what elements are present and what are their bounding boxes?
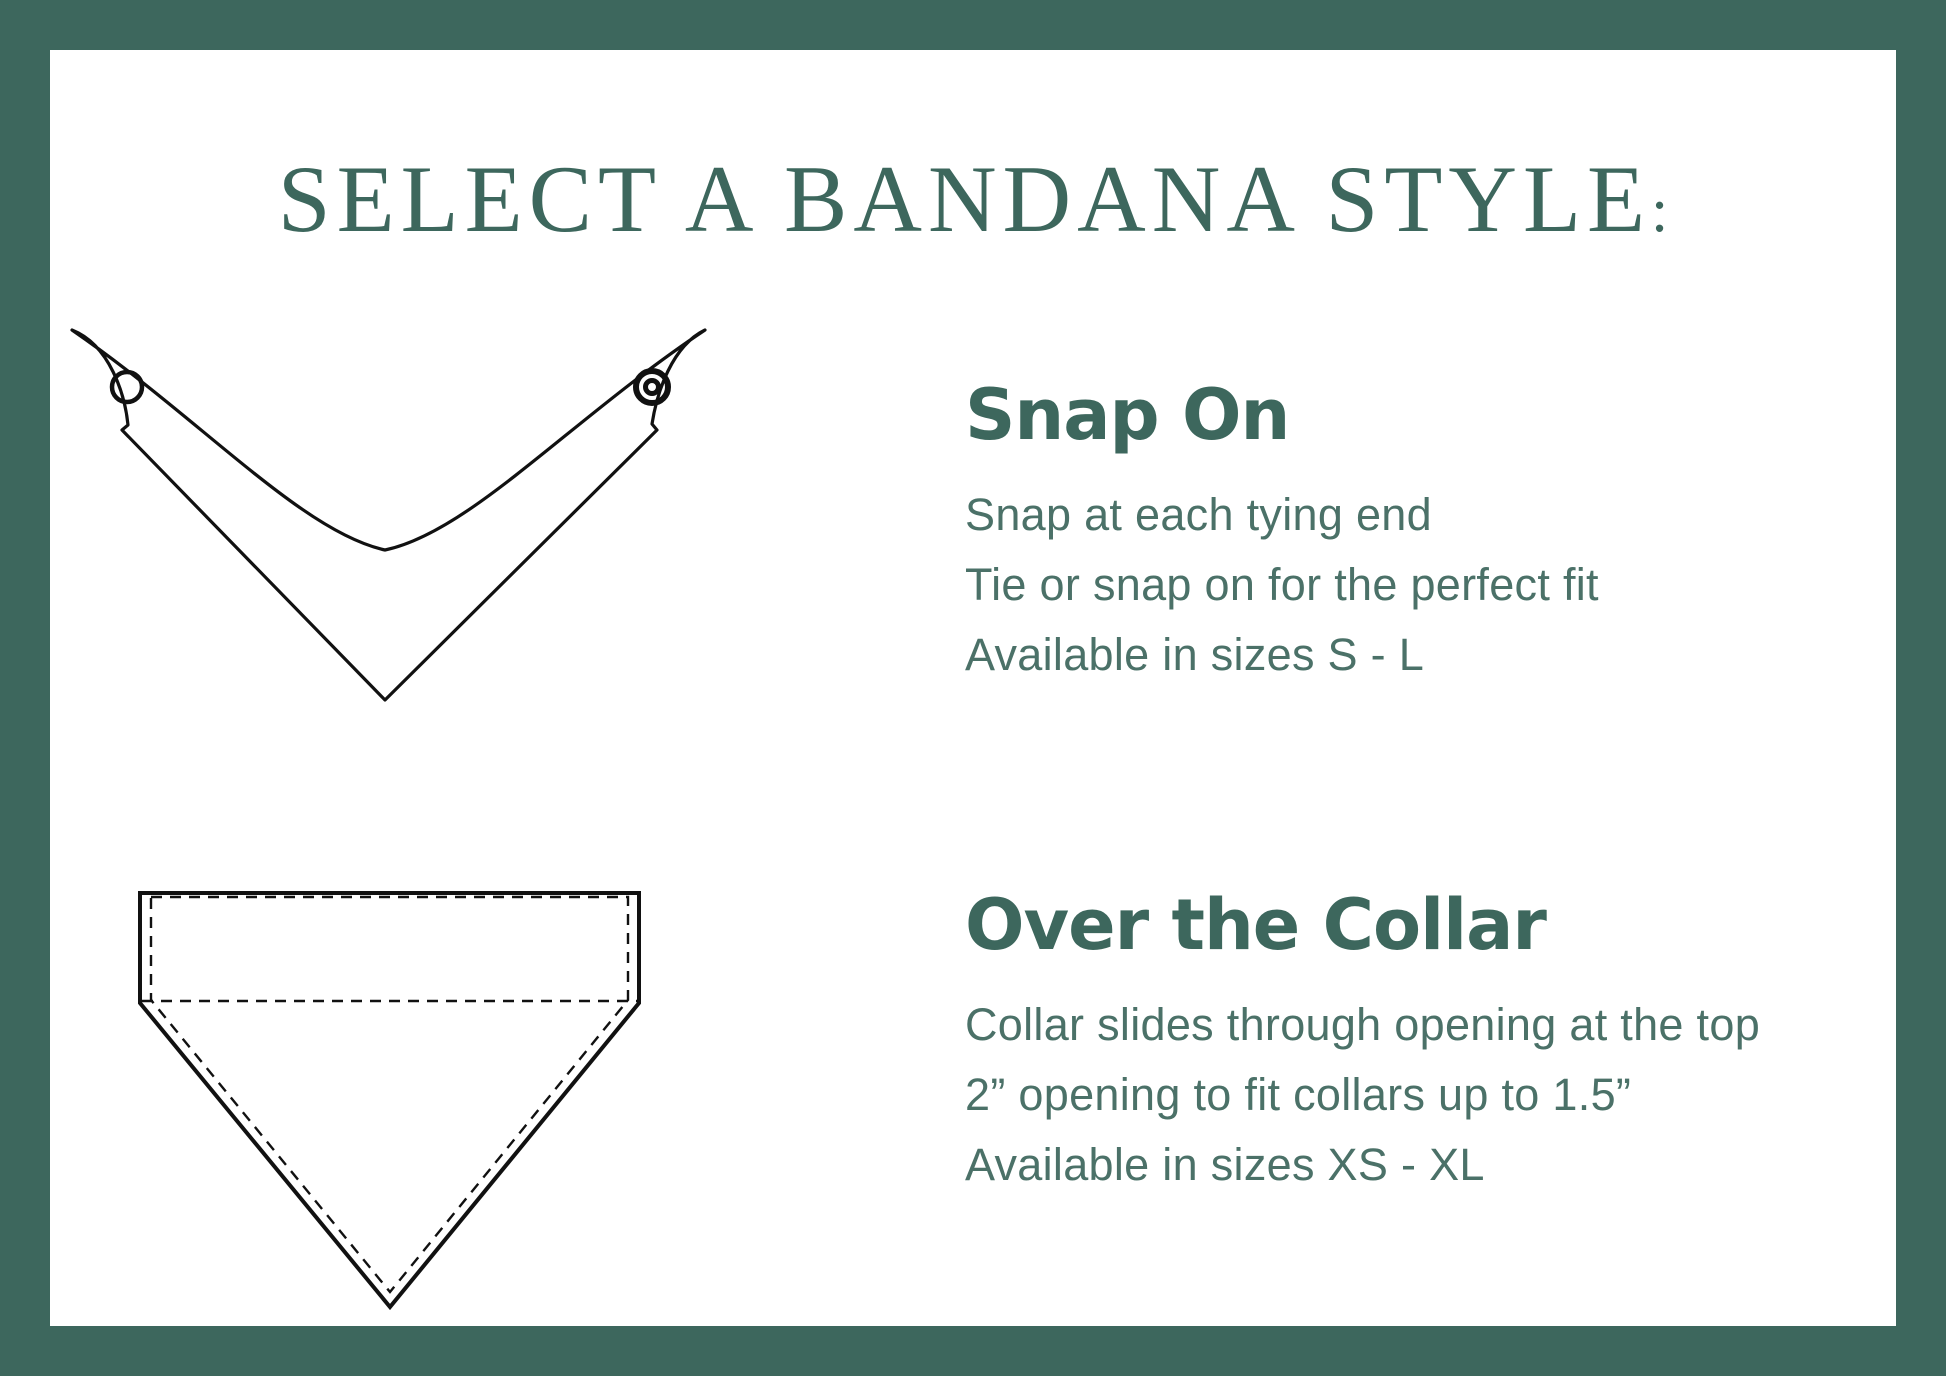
over-the-collar-text-block: Over the Collar Collar slides through op… <box>965 890 1865 1200</box>
over-the-collar-heading: Over the Collar <box>965 890 1865 960</box>
over-the-collar-line-3: Available in sizes XS - XL <box>965 1130 1865 1200</box>
poster-canvas: SELECT A BANDANA STYLE: Snap On Snap at … <box>0 0 1946 1376</box>
snap-on-heading: Snap On <box>965 380 1865 450</box>
page-title-text: SELECT A BANDANA STYLE <box>278 146 1651 252</box>
snap-on-description: Snap at each tying end Tie or snap on fo… <box>965 480 1865 690</box>
over-the-collar-bandana-svg <box>50 855 930 1375</box>
snap-on-bandana-outline <box>72 330 705 700</box>
snap-on-text-block: Snap On Snap at each tying end Tie or sn… <box>965 380 1865 690</box>
over-the-collar-description: Collar slides through opening at the top… <box>965 990 1865 1200</box>
over-the-collar-line-1: Collar slides through opening at the top <box>965 990 1865 1060</box>
snap-on-illustration <box>50 300 930 860</box>
over-the-collar-line-2: 2” opening to fit collars up to 1.5” <box>965 1060 1865 1130</box>
snap-on-bandana-svg <box>50 300 930 860</box>
poster-inner-card: SELECT A BANDANA STYLE: Snap On Snap at … <box>50 50 1896 1326</box>
over-the-collar-bandana-outline <box>140 893 639 1307</box>
snap-on-line-3: Available in sizes S - L <box>965 620 1865 690</box>
snap-on-line-2: Tie or snap on for the perfect fit <box>965 550 1865 620</box>
page-title: SELECT A BANDANA STYLE: <box>50 150 1896 250</box>
over-the-collar-illustration <box>50 855 930 1375</box>
page-title-colon: : <box>1651 177 1668 245</box>
snap-on-line-1: Snap at each tying end <box>965 480 1865 550</box>
